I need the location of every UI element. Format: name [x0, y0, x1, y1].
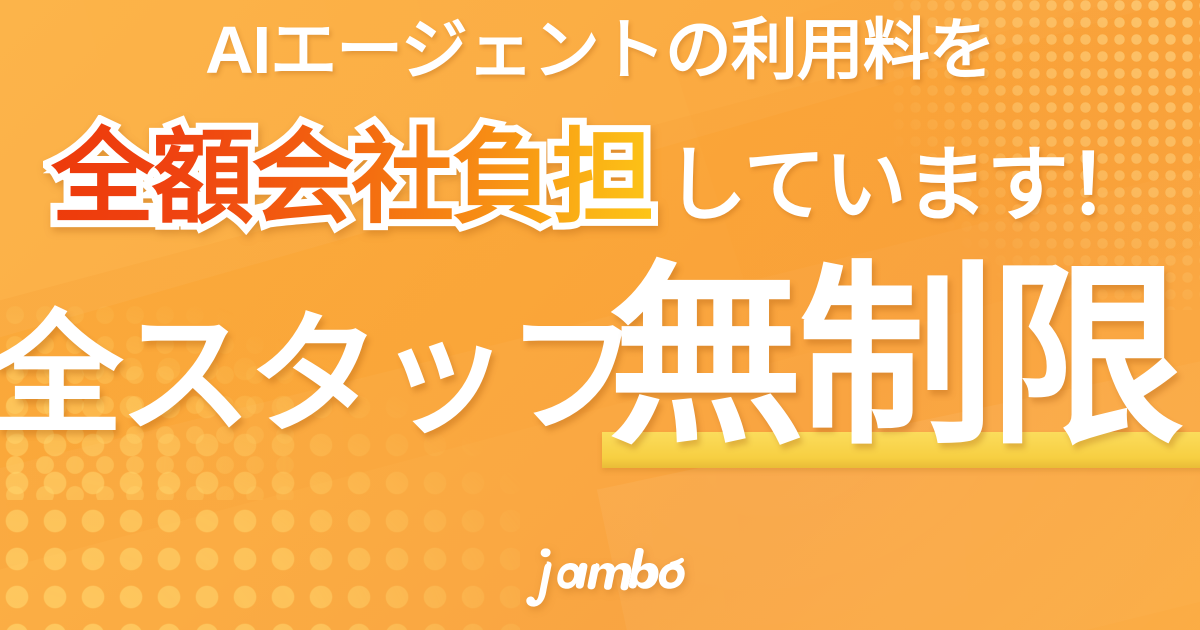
headline-keyword-full-coverage: 全額会社負担 全額会社負担: [51, 126, 651, 229]
headline-line-3: 全スタッフ 無制限: [0, 268, 1200, 483]
jambo-wordmark-icon: [500, 532, 700, 618]
headline-line-2-tail: しています！: [665, 145, 1149, 227]
banner-content: AIエージェントの利用料を 全額会社負担 全額会社負担 しています！ 全スタッフ…: [0, 0, 1200, 630]
brand-logo: jambo: [0, 532, 1200, 623]
headline-keyword-fill: 全額会社負担: [51, 120, 651, 235]
headline-all-staff: 全スタッフ: [0, 310, 635, 443]
headline-unlimited: 無制限: [608, 260, 1178, 456]
promo-banner: AIエージェントの利用料を 全額会社負担 全額会社負担 しています！ 全スタッフ…: [0, 0, 1200, 630]
headline-line-2: 全額会社負担 全額会社負担 しています！: [0, 126, 1200, 229]
headline-line-1: AIエージェントの利用料を: [0, 17, 1200, 84]
